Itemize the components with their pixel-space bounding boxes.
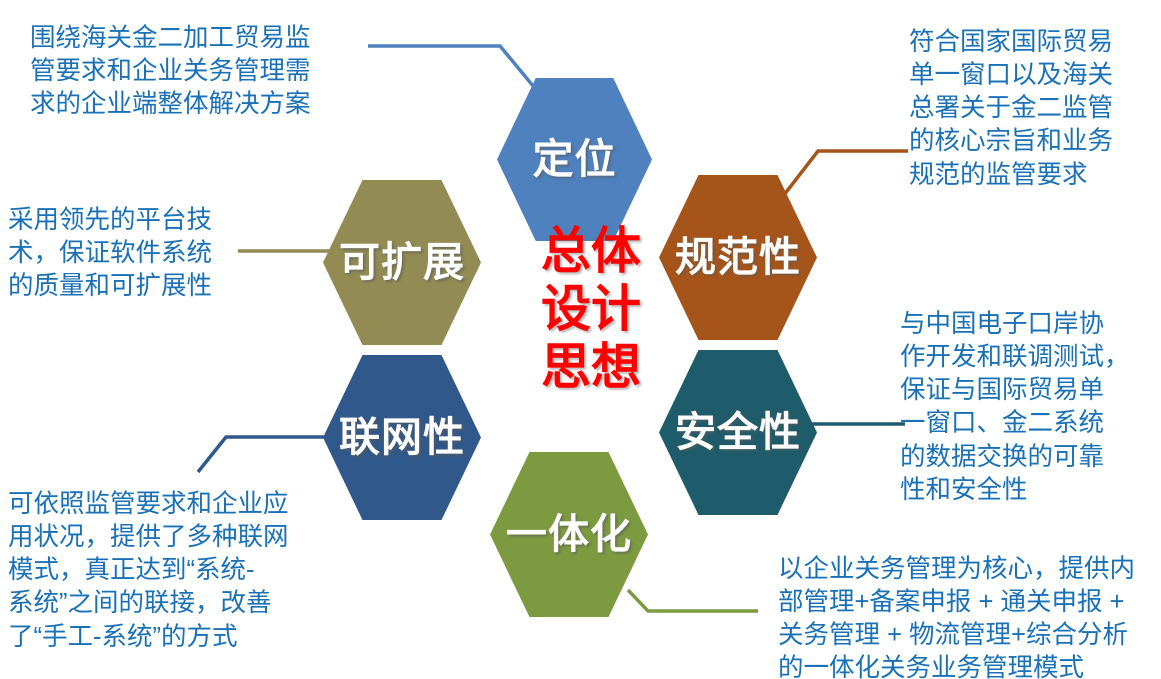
- connector-compliance: [777, 151, 908, 204]
- note-integration: 以企业关务管理为核心，提供内 部管理+备案申报 + 通关申报 + 关务管理 + …: [778, 553, 1161, 679]
- note-security: 与中国电子口岸协 作开发和联调测试， 保证与国际贸易单 一窗口、金二系统 的数据…: [900, 308, 1158, 507]
- hex-node-positioning[interactable]: 定位: [497, 78, 652, 241]
- hex-label-networking: 联网性: [339, 417, 465, 458]
- hex-label-positioning: 定位: [533, 139, 617, 180]
- hex-node-scalability[interactable]: 可扩展: [323, 180, 481, 345]
- hex-label-integration: 一体化: [506, 514, 632, 555]
- note-compliance: 符合国家国际贸易 单一窗口以及海关 总署关于金二监管 的核心宗旨和业务 规范的监…: [909, 26, 1161, 192]
- connector-integration: [628, 590, 758, 611]
- note-networking: 可依照监管要求和企业应 用状况，提供了多种联网 模式，真正达到“系统- 系统”之…: [8, 488, 343, 654]
- hex-node-integration[interactable]: 一体化: [490, 452, 648, 617]
- center-title: 总体 设计 思想: [498, 222, 684, 396]
- diagram-canvas: 定位 可扩展 规范性 联网性 安全性 一体化 总体 设计 思想 围绕海关金二加工…: [0, 0, 1161, 679]
- hex-label-scalability: 可扩展: [339, 242, 465, 283]
- connector-networking: [198, 437, 344, 472]
- note-positioning: 围绕海关金二加工贸易监 管要求和企业关务管理需 求的企业端整体解决方案: [30, 22, 365, 121]
- hex-label-security: 安全性: [675, 412, 801, 453]
- note-scalability: 采用领先的平台技 术，保证软件系统 的质量和可扩展性: [8, 204, 263, 303]
- hex-label-compliance: 规范性: [675, 237, 801, 278]
- hex-node-networking[interactable]: 联网性: [323, 355, 481, 520]
- connector-positioning: [368, 46, 548, 104]
